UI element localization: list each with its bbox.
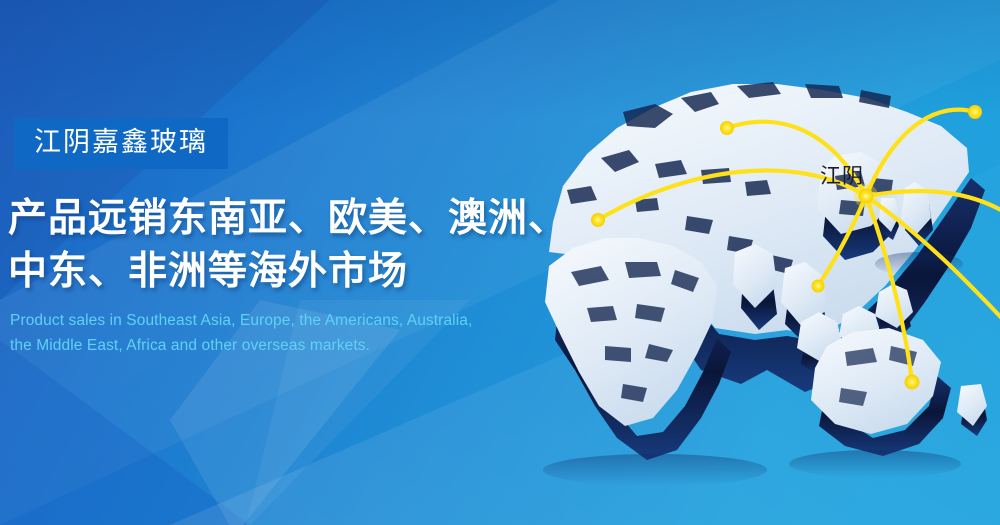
route-to-australia <box>866 196 912 382</box>
map-eurasia-top <box>549 84 969 336</box>
endpoint-north-pacific <box>968 105 982 119</box>
subtitle: Product sales in Southeast Asia, Europe,… <box>10 308 472 358</box>
headline-line-2: 中东、非洲等海外市场 <box>8 245 568 298</box>
map-australia <box>811 328 987 456</box>
map-route-endpoints <box>591 105 982 390</box>
route-to-north-pacific <box>866 110 975 196</box>
subtitle-line-2: the Middle East, Africa and other overse… <box>10 333 472 358</box>
route-to-south-pacific <box>866 196 1000 332</box>
endpoint-europe <box>720 121 734 135</box>
promo-banner: 江阴 江阴嘉鑫玻璃 产品远销东南亚、欧美、澳洲、 中东、非洲等海外市场 Prod… <box>0 0 1000 525</box>
headline-line-1: 产品远销东南亚、欧美、澳洲、 <box>8 192 568 245</box>
map-eurasia-extrude <box>557 90 985 392</box>
endpoint-australia <box>905 375 920 390</box>
map-hub-label: 江阴 <box>820 166 864 187</box>
route-to-east-pacific <box>866 191 1000 220</box>
map-south-asia <box>733 244 777 330</box>
headline: 产品远销东南亚、欧美、澳洲、 中东、非洲等海外市场 <box>8 192 568 298</box>
map-route-lines <box>598 110 1000 382</box>
endpoint-southeast-asia <box>812 280 825 293</box>
banner-text-content: 江阴嘉鑫玻璃 产品远销东南亚、欧美、澳洲、 中东、非洲等海外市场 Product… <box>0 0 600 525</box>
subtitle-line-1: Product sales in Southeast Asia, Europe,… <box>10 308 472 333</box>
map-southeast-asia <box>781 262 913 378</box>
route-to-southeast-asia <box>818 196 866 286</box>
map-reflections <box>543 252 963 486</box>
company-name-badge: 江阴嘉鑫玻璃 <box>14 118 228 169</box>
